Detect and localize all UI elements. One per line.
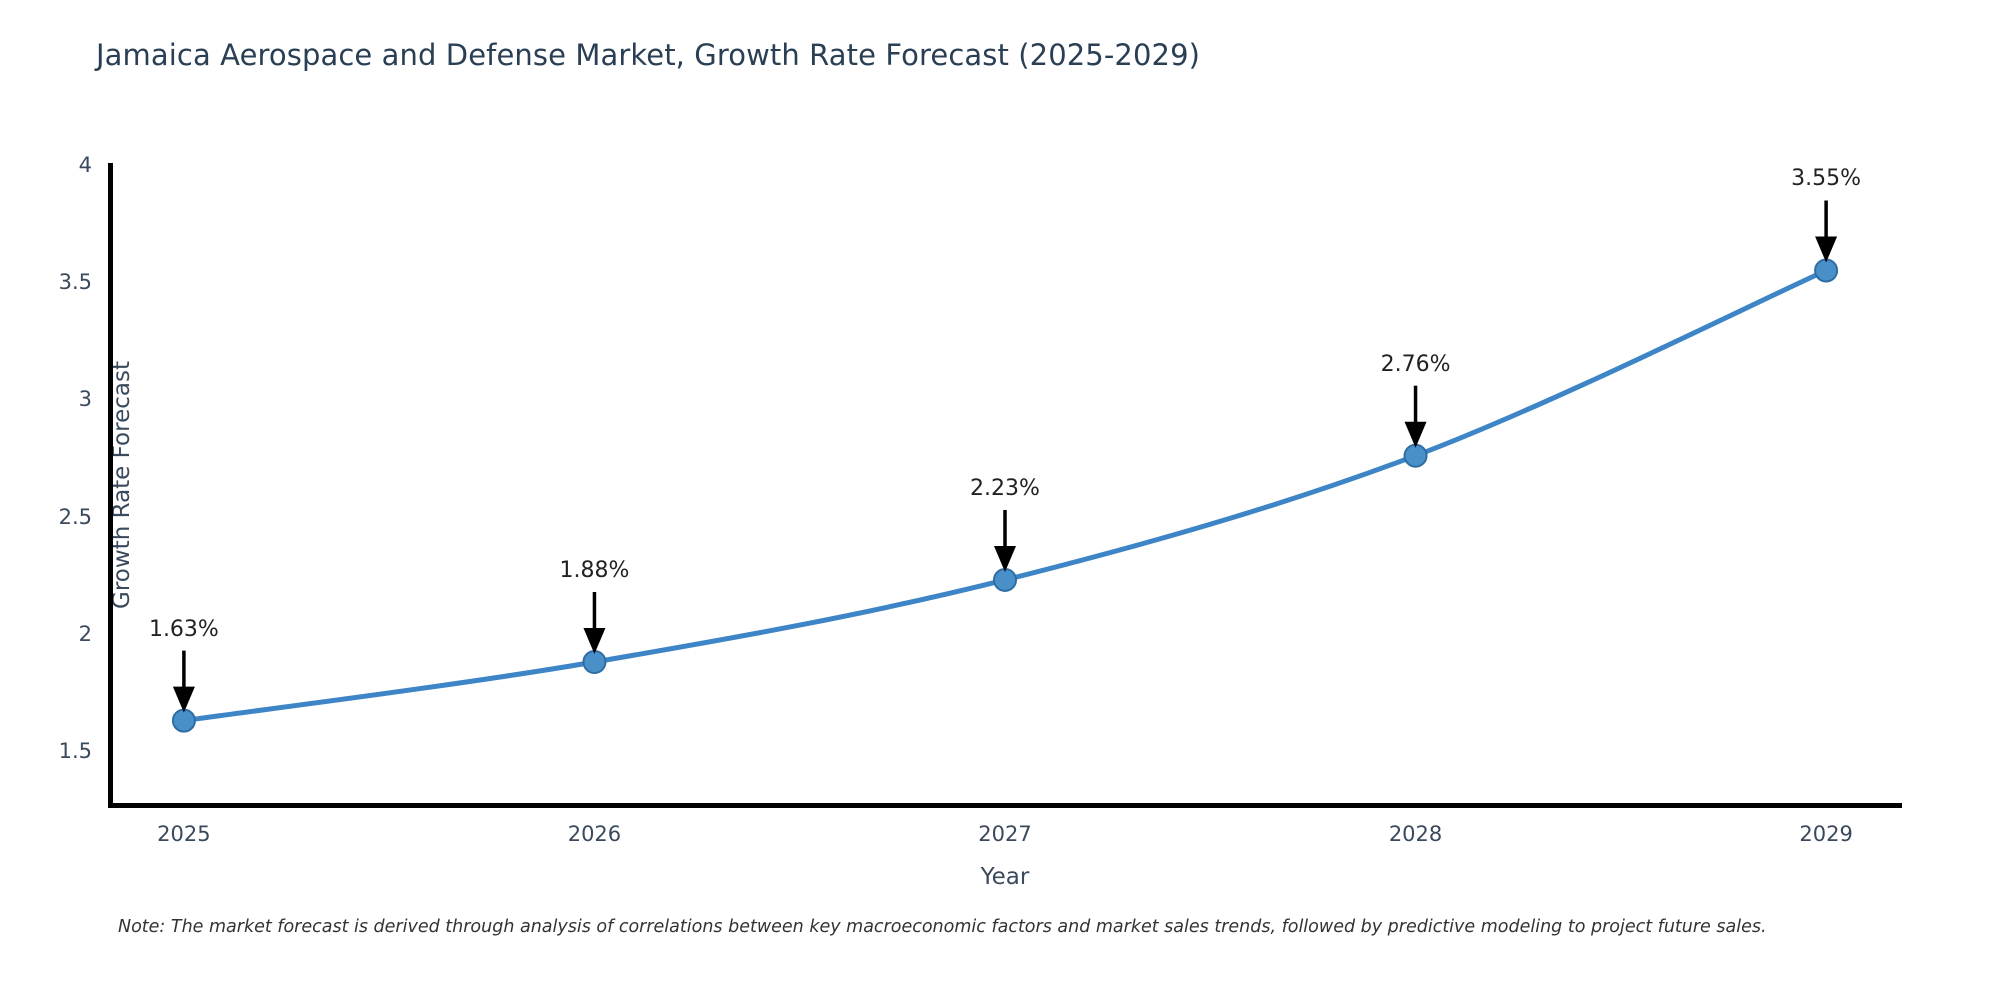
footnote: Note: The market forecast is derived thr…	[118, 917, 1767, 937]
data-point-label: 1.63%	[149, 617, 219, 642]
chart-title: Jamaica Aerospace and Defense Market, Gr…	[96, 38, 1200, 72]
x-axis-tick-label: 2026	[568, 822, 621, 846]
y-axis-tick-label: 3	[79, 387, 92, 411]
annotation-arrow-head	[994, 546, 1016, 572]
y-axis-tick-label: 3.5	[59, 270, 92, 294]
data-point-marker[interactable]	[173, 710, 195, 732]
data-point-label: 2.76%	[1381, 352, 1451, 377]
y-axis-tick-label: 1.5	[59, 739, 92, 763]
y-axis-tick-label: 2	[79, 622, 92, 646]
data-point-marker[interactable]	[1405, 445, 1427, 467]
annotation-arrow-head	[583, 628, 605, 654]
data-point-label: 2.23%	[970, 476, 1040, 501]
data-point-marker[interactable]	[583, 651, 605, 673]
x-axis-tick-label: 2025	[157, 822, 210, 846]
x-axis-tick-label: 2029	[1799, 822, 1852, 846]
data-point-label: 1.88%	[559, 558, 629, 583]
y-axis-tick-label: 2.5	[59, 505, 92, 529]
x-axis-tick-label: 2027	[978, 822, 1031, 846]
annotation-arrow-head	[173, 687, 195, 713]
annotation-arrow-head	[1405, 422, 1427, 448]
y-axis-tick-label: 4	[79, 153, 92, 177]
data-point-marker[interactable]	[1815, 259, 1837, 281]
chart-figure: Jamaica Aerospace and Defense Market, Gr…	[0, 0, 2000, 1000]
annotation-arrow-head	[1815, 236, 1837, 262]
x-axis-tick-label: 2028	[1389, 822, 1442, 846]
data-point-label: 3.55%	[1791, 166, 1861, 191]
data-point-marker[interactable]	[994, 569, 1016, 591]
y-axis-title-container: Growth Rate Forecast	[0, 165, 44, 805]
x-axis-title: Year	[981, 864, 1030, 890]
